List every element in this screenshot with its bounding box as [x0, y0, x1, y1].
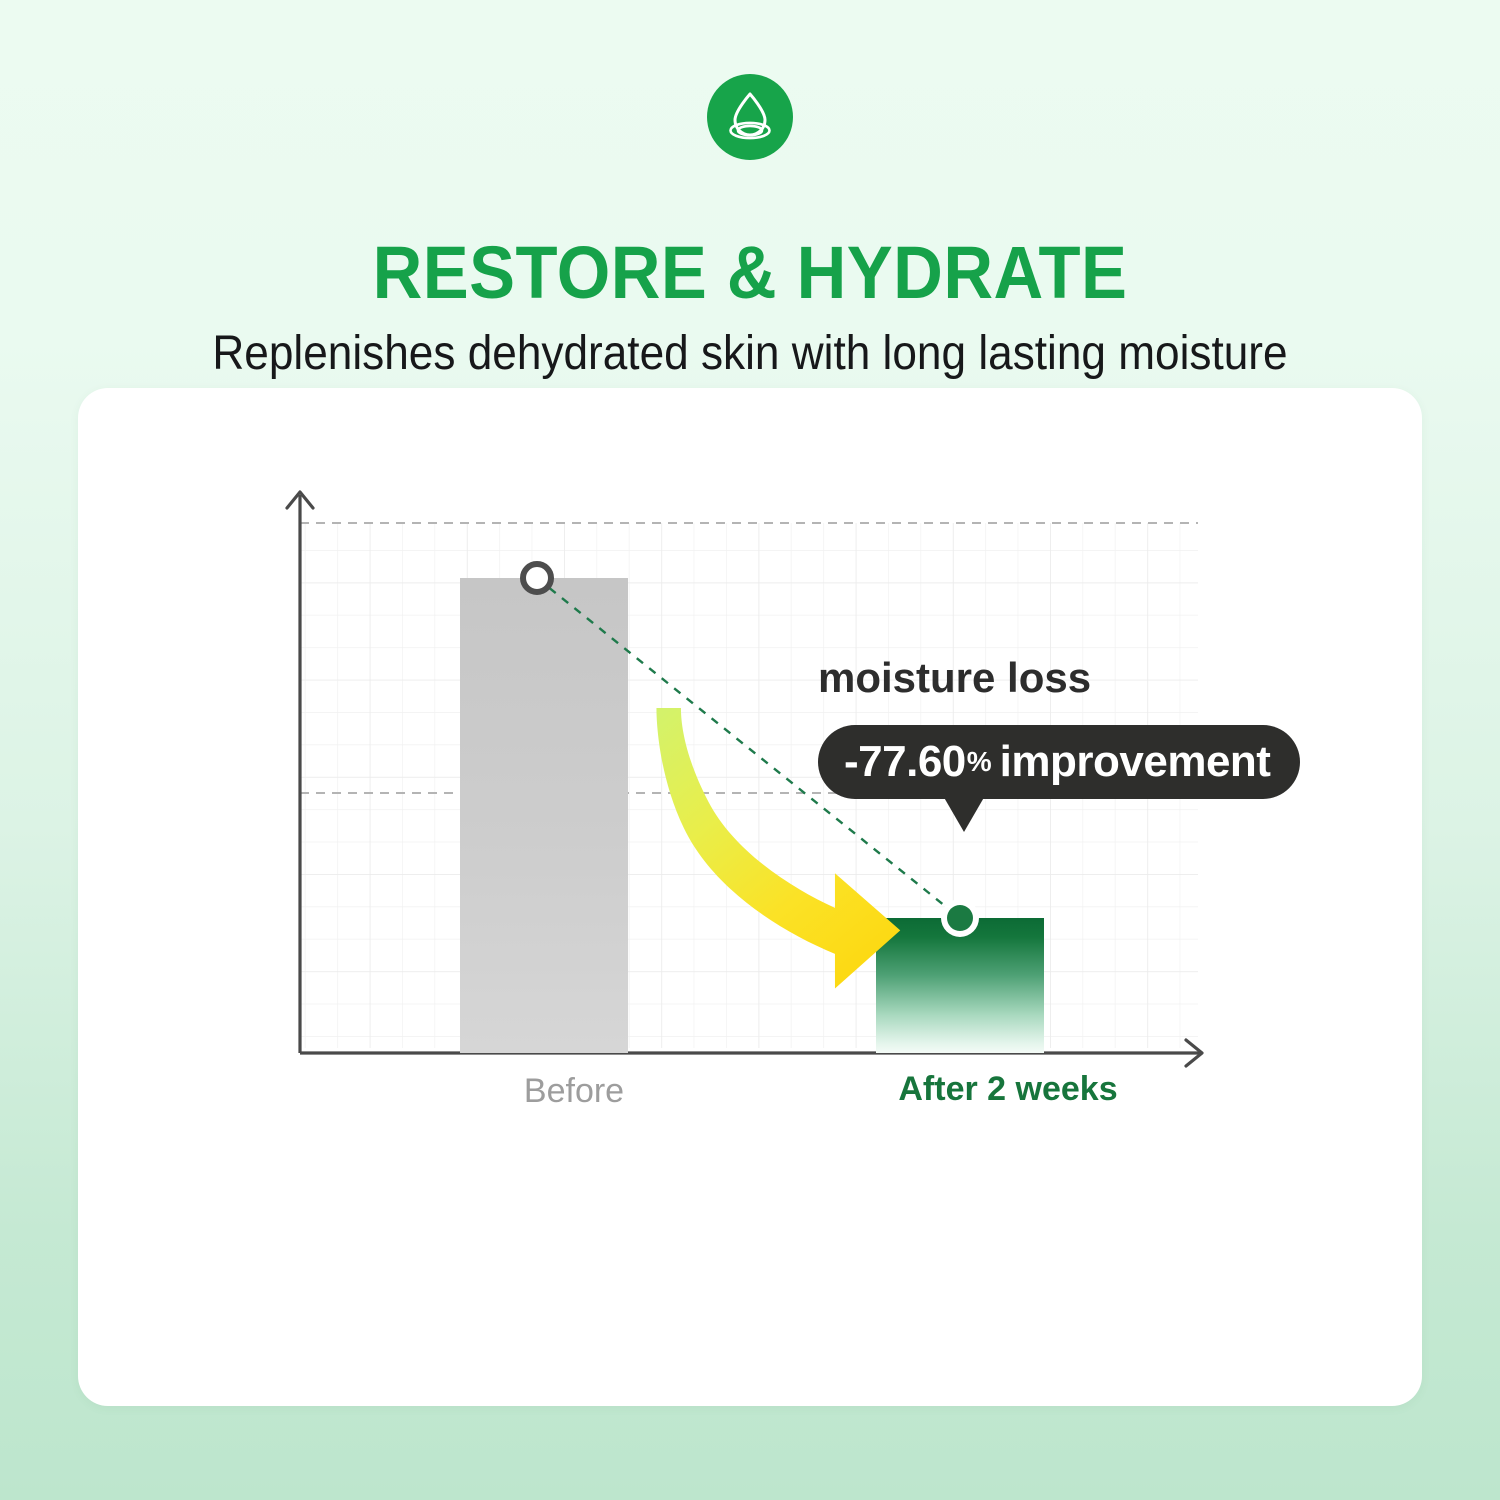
water-drop-ripple-icon — [707, 74, 793, 160]
improvement-value: -77.60 — [844, 739, 966, 785]
page-title: RESTORE & HYDRATE — [53, 233, 1448, 313]
improvement-pill: -77.60 % improvement — [818, 725, 1300, 799]
improvement-unit: % — [967, 739, 992, 785]
x-axis-label-before: Before — [464, 1071, 684, 1111]
page-subtitle: Replenishes dehydrated skin with long la… — [60, 325, 1440, 383]
improvement-suffix: improvement — [1000, 739, 1271, 785]
pill-tail-icon — [942, 794, 986, 832]
promo-page: RESTORE & HYDRATE Replenishes dehydrated… — [0, 0, 1500, 1500]
x-axis-label-after: After 2 weeks — [838, 1069, 1178, 1109]
callout-title: moisture loss — [818, 654, 1091, 702]
moisture-loss-bar-chart: Before After 2 weeks moisture loss -77.6… — [78, 388, 1422, 1406]
chart-card: Before After 2 weeks moisture loss -77.6… — [78, 388, 1422, 1406]
